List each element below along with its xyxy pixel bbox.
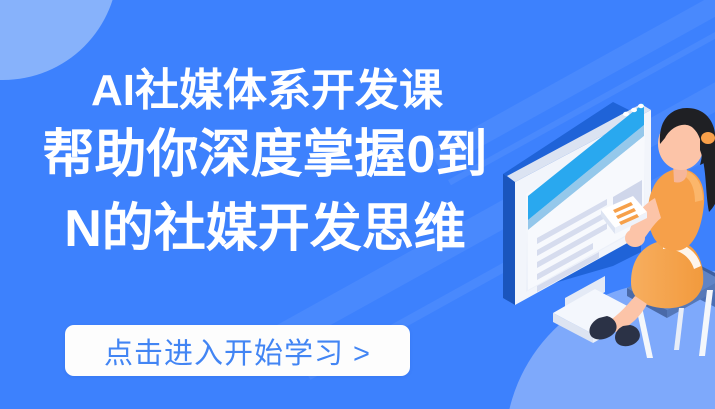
promo-banner: AI社媒体系开发课 帮助你深度掌握0到 N的社媒开发思维 点击进入开始学习 > — [0, 0, 715, 409]
headline-line-1: AI社媒体系开发课 — [30, 64, 500, 118]
start-learning-button[interactable]: 点击进入开始学习 > — [65, 325, 410, 376]
headline-line-3: N的社媒开发思维 — [30, 192, 500, 266]
window-dot — [631, 108, 637, 112]
woman-hair-tie — [701, 132, 715, 144]
window-dot — [638, 104, 644, 108]
start-learning-button-label: 点击进入开始学习 > — [104, 330, 371, 372]
woman-skirt — [631, 240, 703, 308]
woman-hand — [625, 229, 645, 247]
headline-line-2: 帮助你深度掌握0到 — [30, 118, 500, 192]
headline-block: AI社媒体系开发课 帮助你深度掌握0到 N的社媒开发思维 — [30, 64, 500, 266]
chair-leg — [674, 308, 684, 350]
illustration-woman-at-computer — [495, 70, 715, 360]
window-dot — [623, 112, 629, 116]
